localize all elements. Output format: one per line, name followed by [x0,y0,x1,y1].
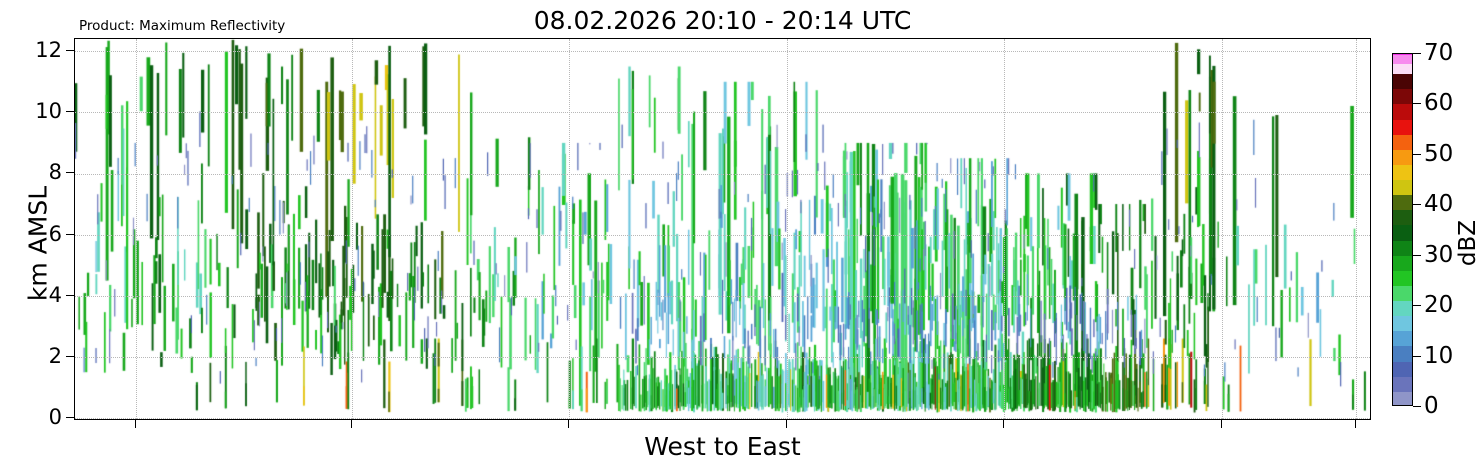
x-tick-mark [1355,420,1356,428]
x-tick-mark [568,420,569,428]
colorbar-tick-mark [1413,53,1421,54]
colorbar-tick-label: 20 [1424,292,1453,318]
y-tick-mark [66,356,74,357]
plot-area[interactable] [74,38,1371,420]
colorbar-band [1393,271,1412,286]
colorbar-tick-label: 60 [1424,90,1453,116]
x-tick-mark [351,420,352,428]
colorbar-band [1393,392,1412,406]
colorbar-band [1393,331,1412,346]
colorbar-band [1393,225,1412,240]
colorbar-band [1393,241,1412,256]
colorbar-band [1393,362,1412,377]
colorbar-tick-label: 70 [1424,40,1453,66]
colorbar-tick-mark [1413,204,1421,205]
colorbar-band [1393,195,1412,210]
colorbar-tick-mark [1413,255,1421,256]
x-tick-mark [1003,420,1004,428]
y-tick-mark [66,234,74,235]
colorbar-tick-label: 10 [1424,343,1453,369]
colorbar-tick-mark [1413,305,1421,306]
colorbar-band [1393,150,1412,165]
gridline-horizontal [75,418,1370,419]
colorbar-band [1393,64,1412,74]
colorbar-tick-label: 50 [1424,141,1453,167]
colorbar-band [1393,54,1412,55]
x-tick-mark [786,420,787,428]
colorbar-band [1393,89,1412,104]
y-tick-label: 0 [8,405,62,429]
colorbar-band [1393,256,1412,271]
colorbar-band [1393,301,1412,316]
colorbar-tick-mark [1413,154,1421,155]
colorbar-band [1393,165,1412,180]
colorbar-band [1393,316,1412,331]
colorbar-tick-label: 40 [1424,191,1453,217]
product-label: Product: Maximum Reflectivity [79,18,285,34]
colorbar-band [1393,377,1412,392]
y-tick-mark [66,50,74,51]
colorbar-band [1393,180,1412,195]
colorbar-title: dBZ [1455,153,1481,333]
colorbar-band [1393,346,1412,361]
x-tick-mark [1221,420,1222,428]
colorbar-band [1393,104,1412,119]
x-tick-mark [135,420,136,428]
colorbar-band [1393,210,1412,225]
y-tick-mark [66,172,74,173]
colorbar [1392,53,1413,406]
colorbar-tick-label: 0 [1424,393,1439,419]
colorbar-tick-label: 30 [1424,242,1453,268]
y-tick-label: 12 [8,38,62,62]
colorbar-band [1393,74,1412,89]
y-tick-mark [66,295,74,296]
y-axis-label: km AMSL [24,114,53,374]
reflectivity-heatmap [75,39,1369,418]
colorbar-band [1393,54,1412,64]
x-axis-label: West to East [74,432,1371,461]
y-tick-mark [66,417,74,418]
radar-reflectivity-figure: 08.02.2026 20:10 - 20:14 UTC Product: Ma… [0,0,1482,470]
colorbar-tick-mark [1413,103,1421,104]
colorbar-band [1393,120,1412,135]
colorbar-band [1393,135,1412,150]
colorbar-tick-mark [1413,356,1421,357]
y-tick-mark [66,111,74,112]
colorbar-tick-mark [1413,406,1421,407]
colorbar-band [1393,286,1412,301]
